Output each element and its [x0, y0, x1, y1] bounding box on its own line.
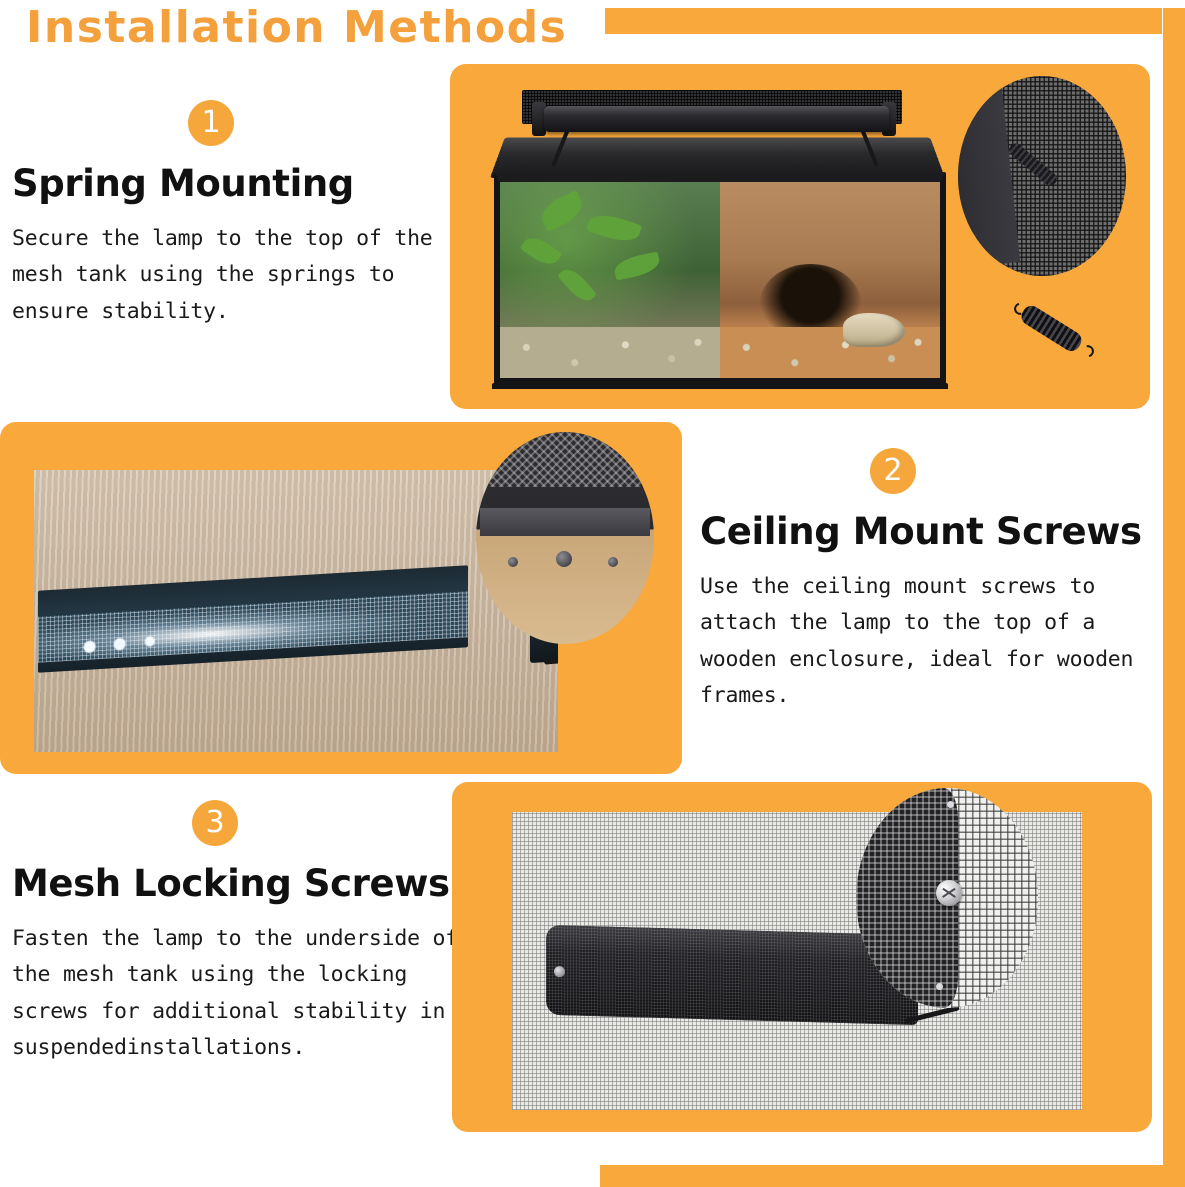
inset-light-mesh	[951, 788, 1038, 1008]
step-2-text-block: 2 Ceiling Mount Screws Use the ceiling m…	[700, 448, 1150, 715]
tank-gravel	[500, 327, 720, 378]
spring-mesh-detail-inset	[958, 76, 1126, 276]
lamp-bar	[544, 106, 889, 132]
step-3-photo-card	[452, 782, 1152, 1132]
frame-bottom-bar	[600, 1165, 1185, 1187]
inset-screw-right	[608, 557, 618, 567]
inset-mesh-texture	[476, 432, 654, 487]
step-1-heading: Spring Mounting	[12, 164, 452, 205]
step-1-photo-card	[450, 64, 1150, 409]
locking-screw-detail-inset	[856, 788, 1038, 1008]
inset-spring	[1007, 141, 1060, 188]
step-2-photo-card	[0, 422, 682, 774]
dino-skull-decor	[843, 313, 905, 347]
ceiling-screw-detail-inset	[476, 432, 654, 644]
tank-base	[492, 383, 948, 389]
mesh-lamp-screw-left	[554, 966, 565, 977]
step-3-body: Fasten the lamp to the underside of the …	[12, 921, 462, 1067]
spring-coil	[1018, 302, 1085, 354]
page-title: Installation Methods	[26, 2, 567, 53]
step-2-body: Use the ceiling mount screws to attach t…	[700, 569, 1150, 715]
terrarium-photo	[484, 84, 969, 389]
step-3-number-badge: 3	[192, 800, 238, 846]
desert-sand	[720, 327, 940, 378]
spring-hook-right	[1080, 343, 1097, 360]
frame-top-bar	[605, 8, 1162, 34]
spring-accessory	[1011, 298, 1096, 362]
inset-center-screw	[556, 551, 572, 567]
inset-lamp-panel	[958, 76, 1020, 269]
tank-right-habitat	[720, 182, 940, 378]
step-2-number-badge: 2	[870, 448, 916, 494]
step-2-heading: Ceiling Mount Screws	[700, 512, 1150, 553]
step-1-body: Secure the lamp to the top of the mesh t…	[12, 221, 452, 331]
step-1-number-badge: 1	[188, 100, 234, 146]
installation-methods-infographic: Installation Methods 1 Spring Mounting S…	[0, 0, 1185, 1187]
inset-mount-bracket	[480, 508, 651, 536]
step-3-text-block: 3 Mesh Locking Screws Fasten the lamp to…	[12, 800, 462, 1067]
inset-screw-left	[508, 557, 518, 567]
frame-right-bar	[1163, 8, 1185, 1165]
tank-left-habitat	[500, 182, 720, 378]
step-1-text-block: 1 Spring Mounting Secure the lamp to the…	[12, 100, 452, 330]
tank-glass-body	[494, 172, 946, 384]
step-3-heading: Mesh Locking Screws	[12, 864, 462, 905]
